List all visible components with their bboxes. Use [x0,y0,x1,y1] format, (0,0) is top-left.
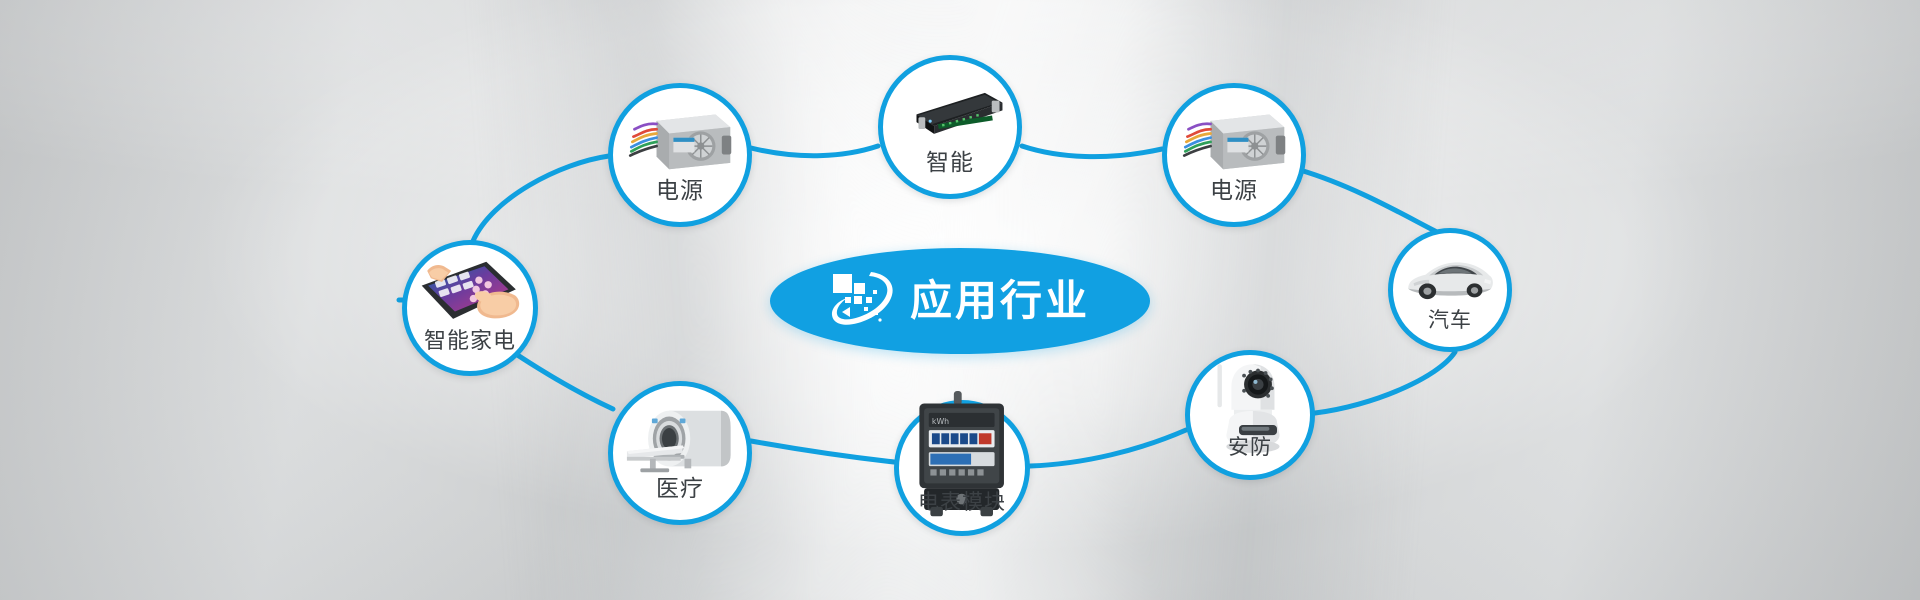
swoosh-pixel-logo [830,270,896,332]
connector-arc-3 [1022,146,1162,157]
node-label: 电源 [613,180,747,203]
node-automobile[interactable]: 汽车 [1388,228,1512,352]
node-smart[interactable]: 智能 [878,55,1022,199]
node-label: 电源 [1167,180,1301,203]
center-badge[interactable]: 应用行业 [770,248,1150,354]
node-meter-module[interactable]: kWh [894,400,1030,536]
node-label: 安防 [1190,437,1310,458]
rack-server-icon [895,85,1004,142]
node-power-top-right[interactable]: 电源 [1162,83,1306,227]
ct-scanner-art [613,407,747,471]
electric-meter-art: kWh [899,425,1025,485]
svg-text:kWh: kWh [932,417,949,426]
connector-arc-6 [1030,430,1186,466]
application-industries-banner: 应用行业 [0,0,1920,600]
pc-power-supply-icon [1179,104,1288,180]
sports-car-art [1393,251,1507,306]
node-label: 电表模块 [899,492,1025,513]
node-security[interactable]: 安防 [1185,350,1315,480]
node-label: 汽车 [1393,310,1507,331]
node-label: 智能 [883,152,1017,175]
center-badge-title: 应用行业 [910,280,1090,322]
connector-arc-5 [1315,352,1455,413]
ct-scanner-icon [625,405,734,474]
node-label: 医疗 [613,478,747,501]
pc-power-supply-icon [625,104,734,180]
node-smart-home[interactable]: 智能家电 [402,240,538,376]
connector-arc-1 [473,156,609,241]
connector-arc-4 [1300,170,1441,234]
tablet-touch-art [407,265,533,325]
sports-car-icon [1403,252,1497,304]
node-medical[interactable]: 医疗 [608,381,752,525]
connector-arc-2 [751,146,878,156]
connector-arc-7 [751,441,894,462]
pc-power-supply-art [1167,109,1301,173]
node-power-top-left[interactable]: 电源 [608,83,752,227]
ip-camera-art [1190,374,1310,432]
rack-server-art [883,81,1017,145]
node-label: 智能家电 [407,331,533,353]
tablet-touch-icon [418,258,521,332]
pc-power-supply-art [613,109,747,173]
